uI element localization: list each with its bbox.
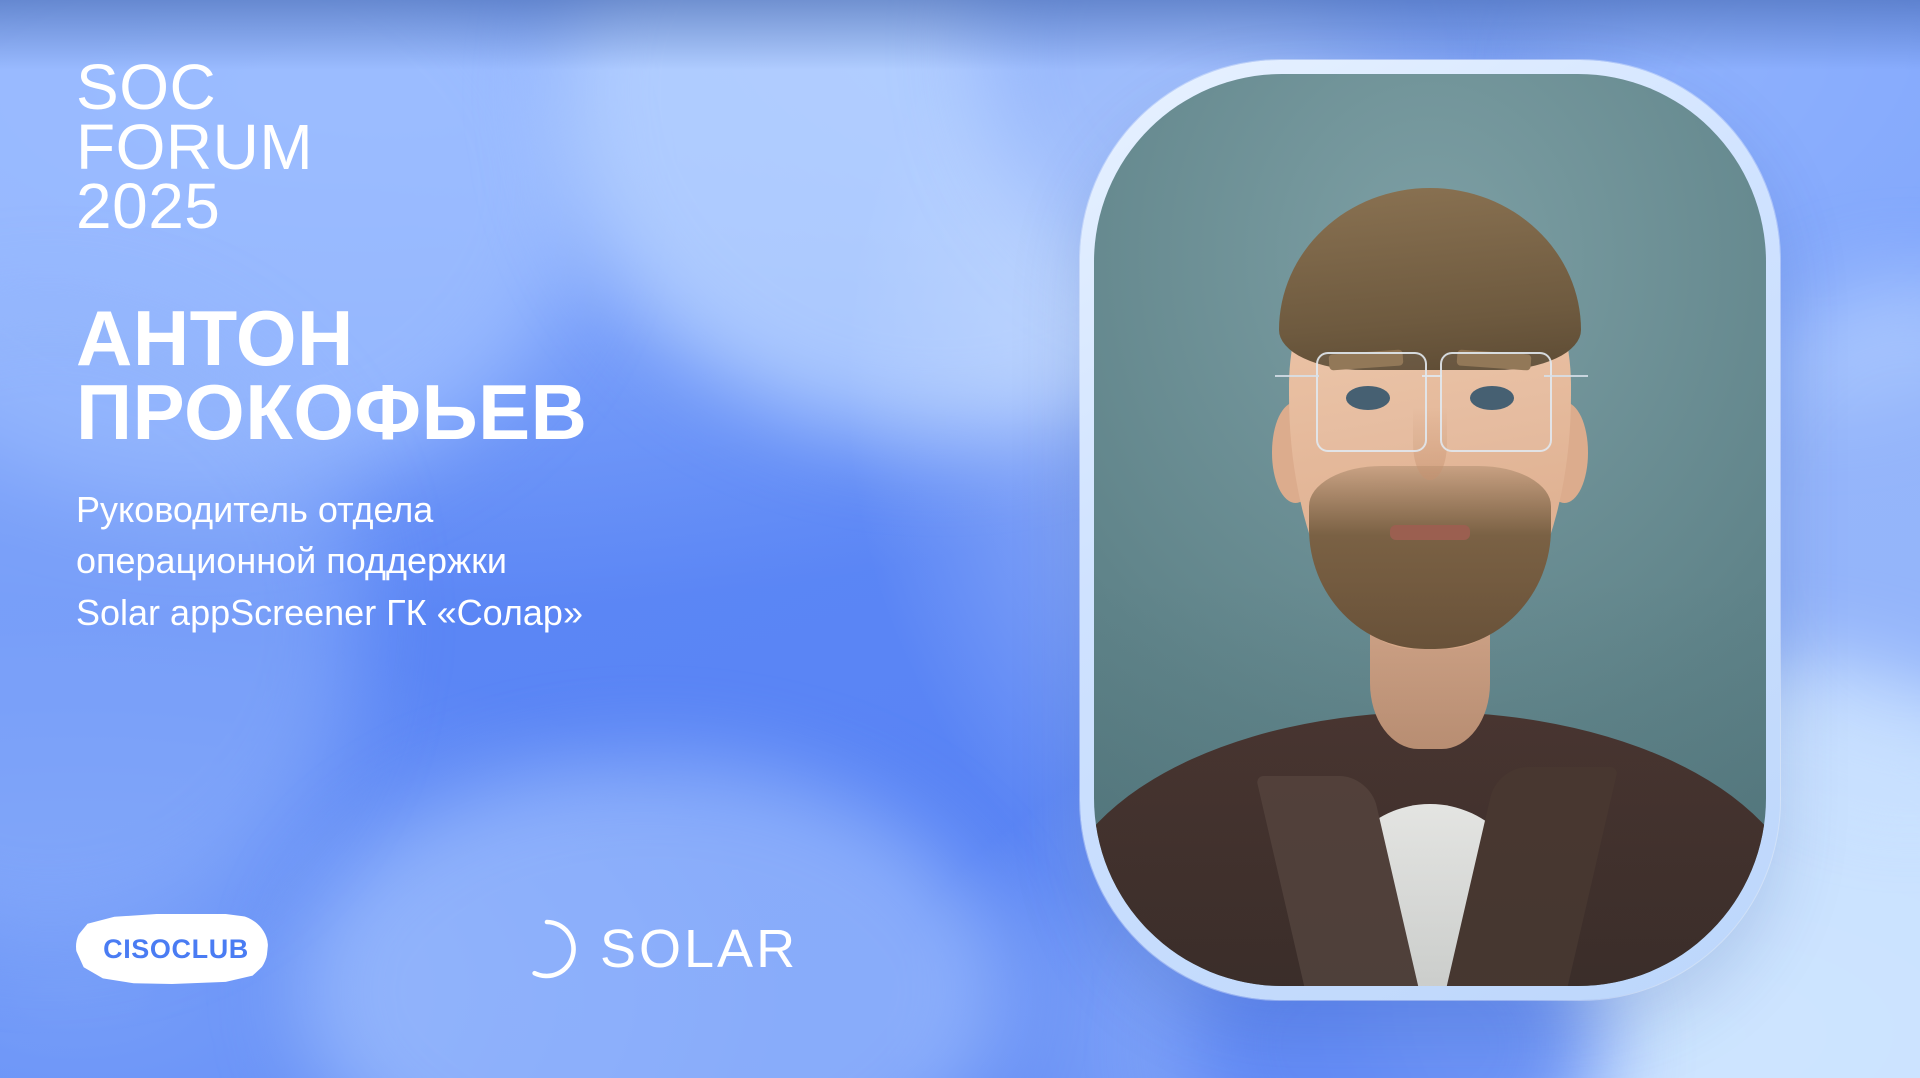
speaker-name: АНТОН ПРОКОФЬЕВ [76,301,876,451]
speaker-photo-frame [1080,60,1780,1000]
photo-mouth [1390,525,1471,540]
solar-logo[interactable]: SOLAR [516,918,798,980]
glasses-temple-left-icon [1275,375,1319,377]
glasses-lens-right-icon [1440,352,1552,452]
photo-hair [1279,188,1581,370]
cisoclub-logo[interactable]: CISOCLUB [76,914,268,984]
glasses-temple-right-icon [1544,375,1588,377]
slide-text-column: SOC FORUM 2025 АНТОН ПРОКОФЬЕВ Руководит… [76,58,876,638]
logo-row: CISOCLUB SOLAR [76,912,976,998]
ring-gap-icon [516,918,578,980]
speaker-role: Руководитель отдела операционной поддерж… [76,484,876,637]
glasses-bridge-icon [1422,375,1442,377]
presentation-slide: SOC FORUM 2025 АНТОН ПРОКОФЬЕВ Руководит… [0,0,1920,1078]
photo-vignette [1094,576,1766,986]
cisoclub-logo-text: CISOCLUB [103,934,249,965]
glasses-lens-left-icon [1316,352,1428,452]
solar-logo-text: SOLAR [600,922,798,976]
speaker-photo [1094,74,1766,986]
event-title: SOC FORUM 2025 [76,58,876,237]
